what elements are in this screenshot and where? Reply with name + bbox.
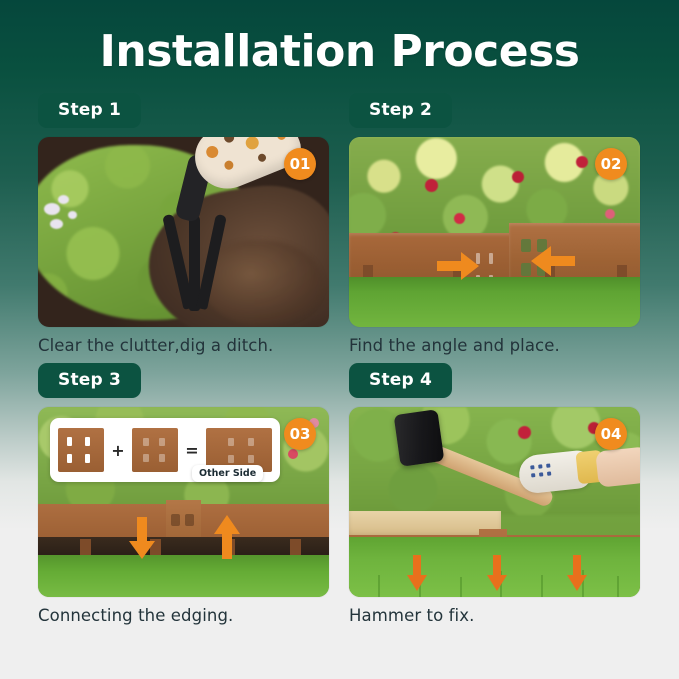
panel-slot [171, 514, 180, 526]
step-caption-2: Find the angle and place. [349, 336, 642, 355]
panel-tab [248, 438, 254, 446]
glove-pattern-dot [276, 137, 288, 141]
other-side-label: Other Side [192, 465, 263, 482]
garden-cultivator-icon [158, 161, 236, 311]
steps-grid: Step 1 [38, 93, 642, 625]
steps-row-2: Step 3 + [38, 363, 642, 625]
step-badge-4: Step 4 [349, 363, 452, 398]
glove-pattern-dot [539, 472, 543, 476]
diagram-equals-operator: = [185, 441, 198, 460]
panel-slot [85, 437, 90, 446]
diagram-plus-operator: + [111, 441, 124, 460]
step-number-badge-1: 01 [284, 148, 316, 180]
step-badge-3: Step 3 [38, 363, 141, 398]
glove-pattern-dot [257, 153, 267, 163]
red-rose [576, 156, 588, 168]
pink-rose [288, 449, 298, 459]
panel-tab [143, 438, 149, 446]
panel-tab [143, 454, 149, 462]
panel-tab [159, 438, 165, 446]
red-rose [518, 426, 531, 439]
flower-bed-background [349, 137, 640, 235]
step-number-badge-2: 02 [595, 148, 627, 180]
panel-tab [159, 454, 165, 462]
step-card-4: Step 4 [349, 363, 642, 625]
panel-tab [521, 239, 531, 252]
arrow-down-icon [129, 517, 155, 559]
step-caption-4: Hammer to fix. [349, 606, 642, 625]
lawn-grass [349, 277, 640, 327]
glove-pattern-dot [546, 463, 550, 467]
small-flower [68, 211, 77, 219]
grass-blade [460, 577, 462, 597]
step-badge-1: Step 1 [38, 93, 141, 128]
diagram-panel-tabs [132, 428, 178, 472]
panel-tab [521, 263, 531, 276]
glove-pattern-dot [223, 159, 235, 171]
step-card-3: Step 3 + [38, 363, 331, 625]
step-number-badge-4: 04 [595, 418, 627, 450]
glove-pattern-dot [530, 465, 534, 469]
panel-slot [67, 454, 72, 463]
arrow-left-icon [531, 246, 575, 276]
rubber-mallet-icon [394, 409, 445, 467]
lawn-grass [38, 555, 329, 597]
arrow-down-icon [487, 555, 507, 591]
forearm [595, 446, 640, 487]
glove-pattern-dot [223, 137, 236, 144]
arrow-up-icon [214, 515, 240, 559]
grass-blade [541, 575, 543, 597]
arrow-down-icon [567, 555, 587, 591]
step-image-2: 02 [349, 137, 640, 327]
glove-pattern-dot [204, 144, 220, 160]
step-caption-1: Clear the clutter,dig a ditch. [38, 336, 331, 355]
glove-pattern-dot [538, 464, 542, 468]
diagram-panel-slots [58, 428, 104, 472]
step-card-1: Step 1 [38, 93, 331, 355]
grass-blade [378, 575, 380, 597]
panel-slot [85, 454, 90, 463]
glove-pattern-dot [547, 471, 551, 475]
glove-pattern-dot [244, 137, 261, 151]
panel-slot [185, 514, 194, 526]
step-caption-3: Connecting the edging. [38, 606, 331, 625]
installation-process-infographic: Installation Process Step 1 [0, 0, 679, 679]
step-image-1: 01 [38, 137, 329, 327]
panel-slot [67, 437, 72, 446]
red-rose [425, 179, 438, 192]
small-flower [44, 203, 60, 215]
cultivator-tine [196, 214, 227, 310]
small-flower [58, 195, 69, 204]
step-card-2: Step 2 [349, 93, 642, 355]
arrow-right-icon [437, 252, 479, 280]
step-badge-2: Step 2 [349, 93, 452, 128]
step-number-badge-3: 03 [284, 418, 316, 450]
panel-tab [228, 438, 234, 446]
glove-pattern-dot [531, 473, 535, 477]
panel-tab [248, 455, 254, 463]
panel-slot [489, 253, 493, 264]
small-flower [50, 219, 63, 229]
grass-blade [617, 576, 619, 597]
step-image-3: + = [38, 407, 329, 597]
step-image-4: 04 [349, 407, 640, 597]
steps-row-1: Step 1 [38, 93, 642, 355]
page-title: Installation Process [0, 26, 679, 77]
red-rose [454, 213, 465, 224]
panel-tab [228, 455, 234, 463]
arrow-down-icon [407, 555, 427, 591]
